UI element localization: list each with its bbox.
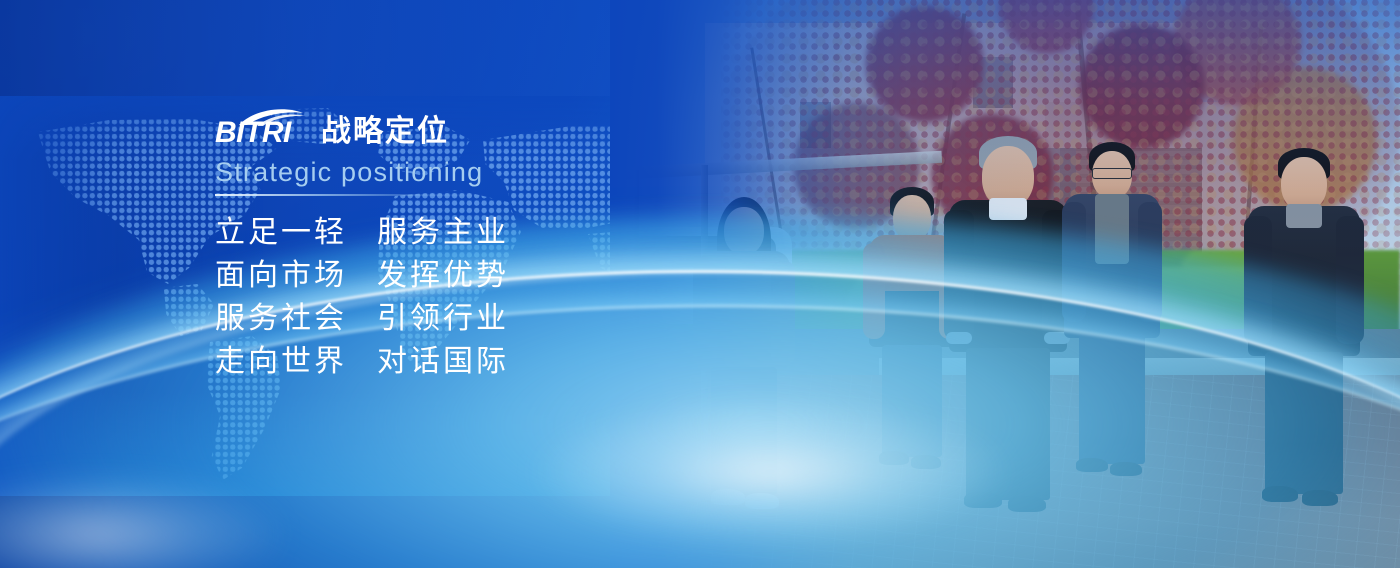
slogan-list: 立足一轻 服务主业 面向市场 发挥优势 服务社会 引领行业 走向世界 对话国际: [215, 218, 735, 377]
title-row: BITRI 战略定位: [215, 104, 735, 148]
heading-english: Strategic positioning: [215, 157, 735, 187]
slogan-left: 面向市场: [215, 261, 347, 291]
strategic-positioning-banner: BITRI 战略定位 Strategic positioning 立足一轻 服务…: [0, 0, 1400, 568]
banner-text-content: BITRI 战略定位 Strategic positioning 立足一轻 服务…: [215, 104, 735, 377]
bitri-logo[interactable]: BITRI: [215, 108, 307, 148]
slogan-left: 服务社会: [215, 304, 347, 334]
slogan-left: 立足一轻: [215, 218, 347, 248]
slogan-right: 对话国际: [377, 347, 509, 377]
slogan-row: 走向世界 对话国际: [215, 347, 735, 377]
slogan-row: 立足一轻 服务主业: [215, 218, 735, 248]
heading-chinese: 战略定位: [321, 117, 449, 148]
heading-divider: [215, 194, 485, 196]
slogan-right: 发挥优势: [377, 261, 509, 291]
slogan-row: 服务社会 引领行业: [215, 304, 735, 334]
bitri-wordmark: BITRI: [215, 118, 291, 148]
slogan-row: 面向市场 发挥优势: [215, 261, 735, 291]
slogan-right: 引领行业: [377, 304, 509, 334]
slogan-left: 走向世界: [215, 347, 347, 377]
slogan-right: 服务主业: [377, 218, 509, 248]
